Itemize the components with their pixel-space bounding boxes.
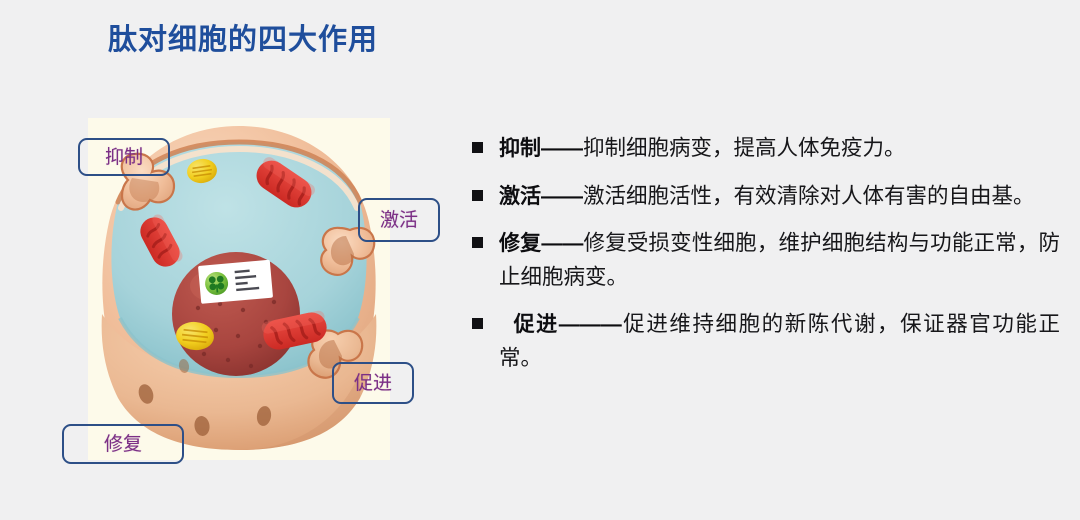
effects-bullet-list: 抑制——抑制细胞病变，提高人体免疫力。 激活——激活细胞活性，有效清除对人体有害… [472,132,1060,389]
bullet-keyword: 激活 [499,185,541,208]
bullet-dash: —— [541,137,583,160]
callout-label-activate[interactable]: 激活 [358,198,440,242]
callout-label-repair[interactable]: 修复 [62,424,184,464]
bullet-keyword: 修复 [499,232,541,255]
callout-label-text: 修复 [104,435,142,454]
bullet-text: 促进———促进维持细胞的新陈代谢，保证器官功能正常。 [499,308,1060,375]
bullet-keyword: 促进 [512,313,559,336]
bullet-description: 激活细胞活性，有效清除对人体有害的自由基。 [583,184,1035,208]
callout-label-text: 抑制 [105,148,143,167]
bullet-description: 修复受损变性细胞，维护细胞结构与功能正常，防止细胞病变。 [499,231,1060,289]
list-item: 激活——激活细胞活性，有效清除对人体有害的自由基。 [472,180,1060,214]
bullet-dash: —— [541,185,583,208]
bullet-dash: —— [541,232,583,255]
info-card [198,260,273,304]
callout-label-inhibit[interactable]: 抑制 [78,138,170,176]
list-item: 抑制——抑制细胞病变，提高人体免疫力。 [472,132,1060,166]
bullet-text: 激活——激活细胞活性，有效清除对人体有害的自由基。 [499,180,1060,214]
list-item: 促进———促进维持细胞的新陈代谢，保证器官功能正常。 [472,308,1060,375]
bullet-square-icon [472,237,483,248]
page-title: 肽对细胞的四大作用 [108,16,378,58]
bullet-description: 抑制细胞病变，提高人体免疫力。 [583,136,906,160]
callout-label-text: 激活 [380,211,418,230]
callout-label-promote[interactable]: 促进 [332,362,414,404]
bullet-keyword: 抑制 [499,137,541,160]
bullet-square-icon [472,190,483,201]
bullet-square-icon [472,142,483,153]
bullet-dash: ——— [559,313,622,336]
list-item: 修复——修复受损变性细胞，维护细胞结构与功能正常，防止细胞病变。 [472,227,1060,294]
bullet-text: 抑制——抑制细胞病变，提高人体免疫力。 [499,132,1060,166]
callout-label-text: 促进 [354,374,392,393]
bullet-square-icon [472,318,483,329]
bullet-text: 修复——修复受损变性细胞，维护细胞结构与功能正常，防止细胞病变。 [499,227,1060,294]
